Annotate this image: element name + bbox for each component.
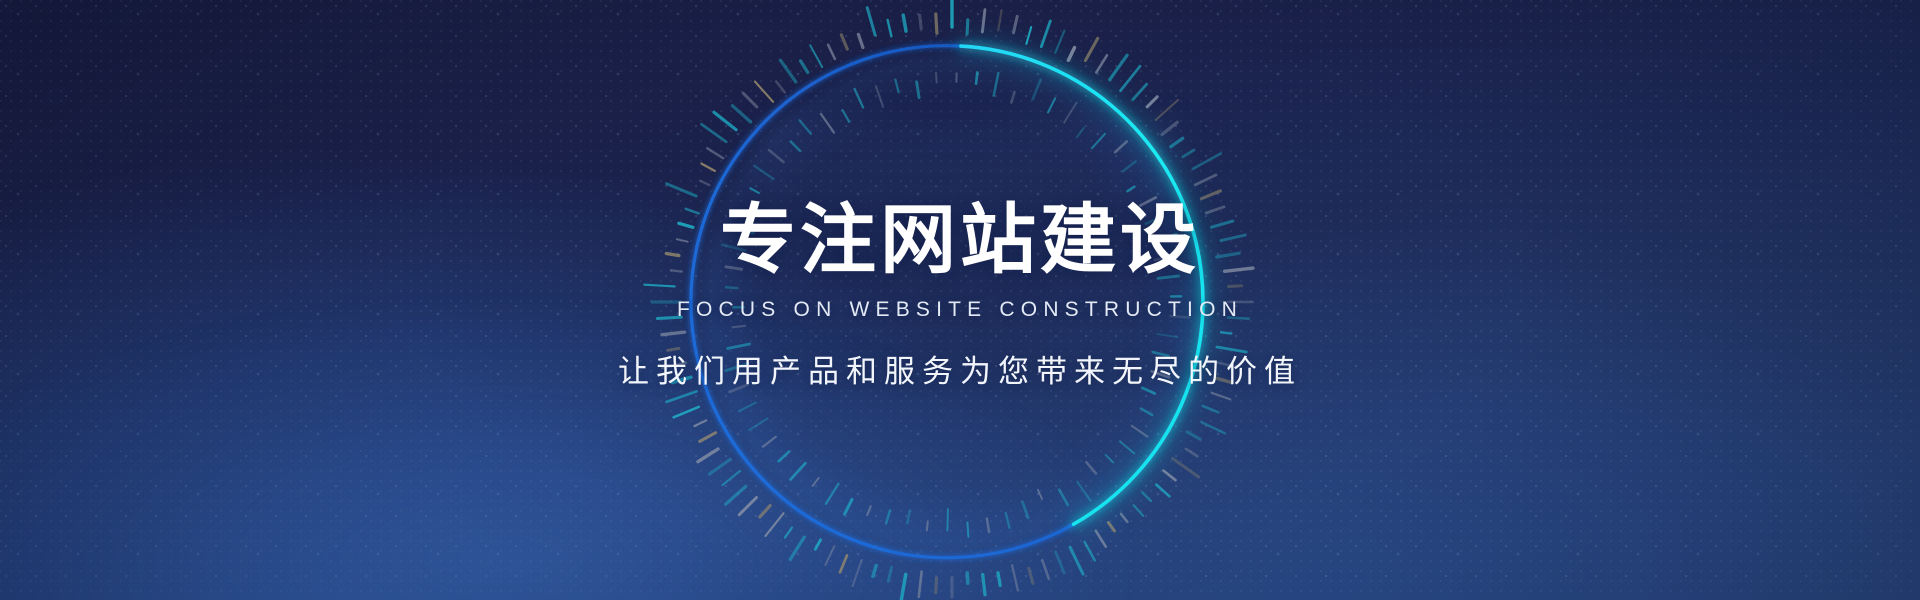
subtitle-chinese: 让我们用产品和服务为您带来无尽的价值 xyxy=(618,346,1302,391)
page-title: 专注网站建设 xyxy=(720,201,1200,282)
hero-banner: 专注网站建设 FOCUS ON WEBSITE CONSTRUCTION 让我们… xyxy=(0,0,1920,600)
subtitle-english: FOCUS ON WEBSITE CONSTRUCTION xyxy=(677,298,1243,322)
hero-copy-block: 专注网站建设 FOCUS ON WEBSITE CONSTRUCTION 让我们… xyxy=(0,0,1920,600)
